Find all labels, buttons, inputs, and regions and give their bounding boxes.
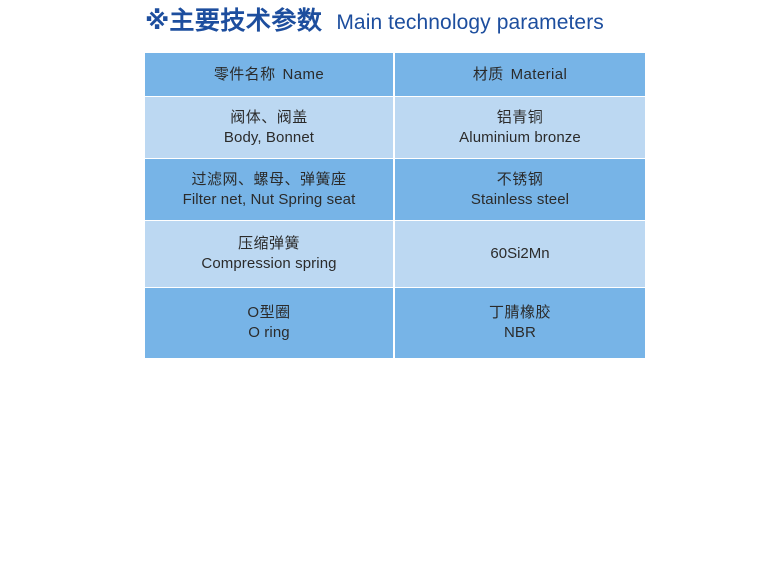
material-english: Aluminium bronze: [459, 128, 581, 148]
material-chinese: 铝青铜: [497, 108, 544, 128]
cell-material: 丁腈橡胶 NBR: [394, 288, 645, 359]
material-chinese: 不锈钢: [497, 170, 544, 190]
cell-part-name: 压缩弹簧 Compression spring: [145, 221, 394, 288]
table-row: 过滤网、螺母、弹簧座 Filter net, Nut Spring seat 不…: [145, 159, 645, 221]
table-row: O型圈 O ring 丁腈橡胶 NBR: [145, 288, 645, 359]
part-name-chinese: O型圈: [247, 303, 290, 323]
technology-parameters-table: 零件名称Name 材质Material 阀体、阀盖 Bo: [145, 53, 645, 358]
cell-part-name: 阀体、阀盖 Body, Bonnet: [145, 97, 394, 159]
material-english: NBR: [504, 323, 536, 343]
cell-material: 铝青铜 Aluminium bronze: [394, 97, 645, 159]
header-cell-material: 材质Material: [394, 53, 645, 97]
document-page: ※ 主要技术参数 Main technology parameters 零件名称…: [0, 0, 778, 588]
table-row: 压缩弹簧 Compression spring 60Si2Mn: [145, 221, 645, 288]
table-row: 阀体、阀盖 Body, Bonnet 铝青铜 Aluminium bronze: [145, 97, 645, 159]
cell-material: 不锈钢 Stainless steel: [394, 159, 645, 221]
part-name-chinese: 压缩弹簧: [238, 234, 300, 254]
material-english: Stainless steel: [471, 190, 569, 210]
header-name-english: Name: [282, 66, 324, 83]
part-name-english: Filter net, Nut Spring seat: [183, 190, 356, 210]
header-name-chinese: 零件名称: [214, 66, 276, 83]
material-chinese: 丁腈橡胶: [489, 303, 551, 323]
part-name-english: Body, Bonnet: [224, 128, 314, 148]
section-title: ※ 主要技术参数 Main technology parameters: [145, 9, 604, 34]
cell-part-name: O型圈 O ring: [145, 288, 394, 359]
part-name-chinese: 阀体、阀盖: [230, 108, 308, 128]
reference-mark-icon: ※: [145, 9, 169, 34]
part-name-english: O ring: [248, 323, 289, 343]
cell-material: 60Si2Mn: [394, 221, 645, 288]
part-name-english: Compression spring: [201, 254, 336, 274]
table-header-row: 零件名称Name 材质Material: [145, 53, 645, 97]
part-name-chinese: 过滤网、螺母、弹簧座: [191, 170, 346, 190]
header-material-english: Material: [511, 66, 568, 83]
header-cell-name: 零件名称Name: [145, 53, 394, 97]
cell-part-name: 过滤网、螺母、弹簧座 Filter net, Nut Spring seat: [145, 159, 394, 221]
section-title-chinese: 主要技术参数: [169, 9, 322, 34]
material-english: 60Si2Mn: [490, 244, 549, 264]
section-title-english: Main technology parameters: [336, 12, 604, 33]
header-material-chinese: 材质: [473, 66, 504, 83]
